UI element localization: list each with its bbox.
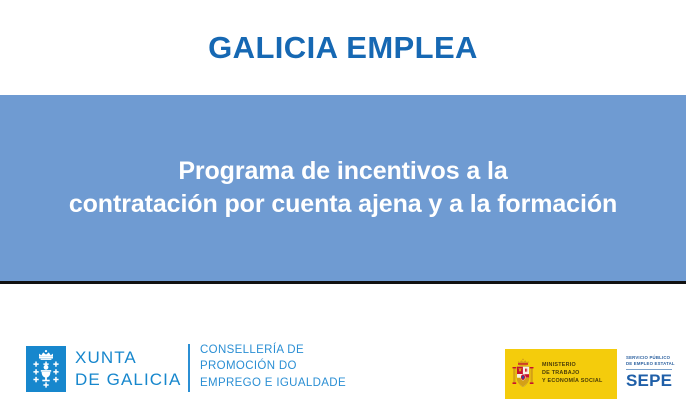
conselleria-line-3: EMPREGO E IGUALDADE (200, 375, 346, 391)
xunta-de-galicia-logo: XUNTA DE GALICIA (26, 346, 181, 392)
spain-coat-of-arms-icon (510, 358, 536, 390)
conselleria-line-2: PROMOCIÓN DO (200, 358, 346, 374)
xunta-wordmark-line-1: XUNTA (75, 347, 181, 369)
ministerio-line-2: DE TRABAJO (542, 370, 603, 378)
sepe-acronym: SEPE (626, 371, 672, 391)
footer: XUNTA DE GALICIA CONSELLERÍA DE PROMOCIÓ… (0, 284, 686, 410)
ministerio-de-trabajo-logo: MINISTERIO DE TRABAJO Y ECONOMÍA SOCIAL (505, 349, 617, 399)
footer-divider (188, 344, 190, 392)
sepe-rule (626, 369, 672, 370)
title-area: GALICIA EMPLEA (0, 0, 686, 95)
xunta-wordmark-line-2: DE GALICIA (75, 369, 181, 391)
conselleria-label: CONSELLERÍA DE PROMOCIÓN DO EMPREGO E IG… (200, 342, 346, 391)
banner-heading: Programa de incentivos a la contratación… (55, 155, 631, 221)
banner-heading-line-1: Programa de incentivos a la (69, 155, 617, 188)
sepe-subtitle-line-2: DE EMPLEO ESTATAL (626, 361, 672, 367)
sepe-logo: SERVICIO PÚBLICO DE EMPLEO ESTATAL SEPE (622, 349, 676, 399)
ministerio-line-3: Y ECONOMÍA SOCIAL (542, 378, 603, 386)
program-banner: Programa de incentivos a la contratación… (0, 95, 686, 281)
ministerio-wordmark: MINISTERIO DE TRABAJO Y ECONOMÍA SOCIAL (542, 362, 603, 385)
xunta-wordmark: XUNTA DE GALICIA (75, 346, 181, 392)
sepe-subtitle: SERVICIO PÚBLICO DE EMPLEO ESTATAL (626, 355, 672, 367)
conselleria-line-1: CONSELLERÍA DE (200, 342, 346, 358)
page-title: GALICIA EMPLEA (208, 32, 478, 63)
xunta-coat-of-arms-icon (26, 346, 66, 392)
banner-heading-line-2: contratación por cuenta ajena y a la for… (69, 188, 617, 221)
ministerio-line-1: MINISTERIO (542, 362, 603, 370)
